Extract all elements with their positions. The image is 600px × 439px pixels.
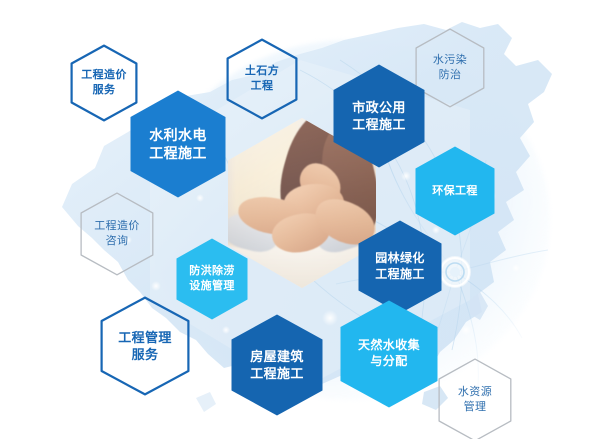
hexagon-label: 工程造价 服务 — [81, 68, 127, 97]
hexagon-tianranshui-shouji[interactable]: 天然水收集 与分配 — [340, 300, 438, 408]
hexagon-gongcheng-zaojia-fuwu[interactable]: 工程造价 服务 — [70, 44, 138, 122]
hexagon-gongcheng-zaojia-zixun[interactable]: 工程造价 咨询 — [80, 192, 154, 276]
hexagon-label: 防洪除涝 设施管理 — [189, 264, 235, 293]
hexagon-shuiziyuan-guanli[interactable]: 水资源 管理 — [438, 358, 512, 439]
hexagon-label: 环保工程 — [432, 184, 478, 199]
hexagon-label: 园林绿化 工程施工 — [375, 251, 425, 283]
hexagon-label: 土石方 工程 — [245, 64, 279, 93]
hexagon-label: 市政公用 工程施工 — [352, 99, 406, 133]
hexagon-shili-shuidian[interactable]: 水利水电 工程施工 — [130, 90, 226, 198]
hexagon-gongcheng-guanli-fuwu[interactable]: 工程管理 服务 — [100, 296, 190, 396]
hexagon-label: 房屋建筑 工程施工 — [250, 348, 304, 382]
network-hub-node — [439, 256, 471, 288]
hexagon-label: 水污染 防治 — [433, 53, 467, 82]
hexagon-label: 工程管理 服务 — [118, 329, 172, 363]
hexagon-shuiwuran-fangzhi[interactable]: 水污染 防治 — [415, 28, 485, 108]
hexagon-tushifang-gongcheng[interactable]: 土石方 工程 — [226, 38, 298, 120]
hexagon-label: 天然水收集 与分配 — [358, 338, 420, 370]
infographic-canvas: 工程造价 服务土石方 工程水污染 防治水利水电 工程施工市政公用 工程施工环保工… — [0, 0, 600, 439]
hexagon-label: 水资源 管理 — [458, 385, 492, 414]
hexagon-fangwu-jianzhu[interactable]: 房屋建筑 工程施工 — [231, 314, 323, 416]
hexagon-shizheng-gongyong[interactable]: 市政公用 工程施工 — [333, 64, 425, 168]
hexagon-label: 水利水电 工程施工 — [149, 126, 207, 163]
hexagon-label: 工程造价 咨询 — [94, 219, 140, 248]
